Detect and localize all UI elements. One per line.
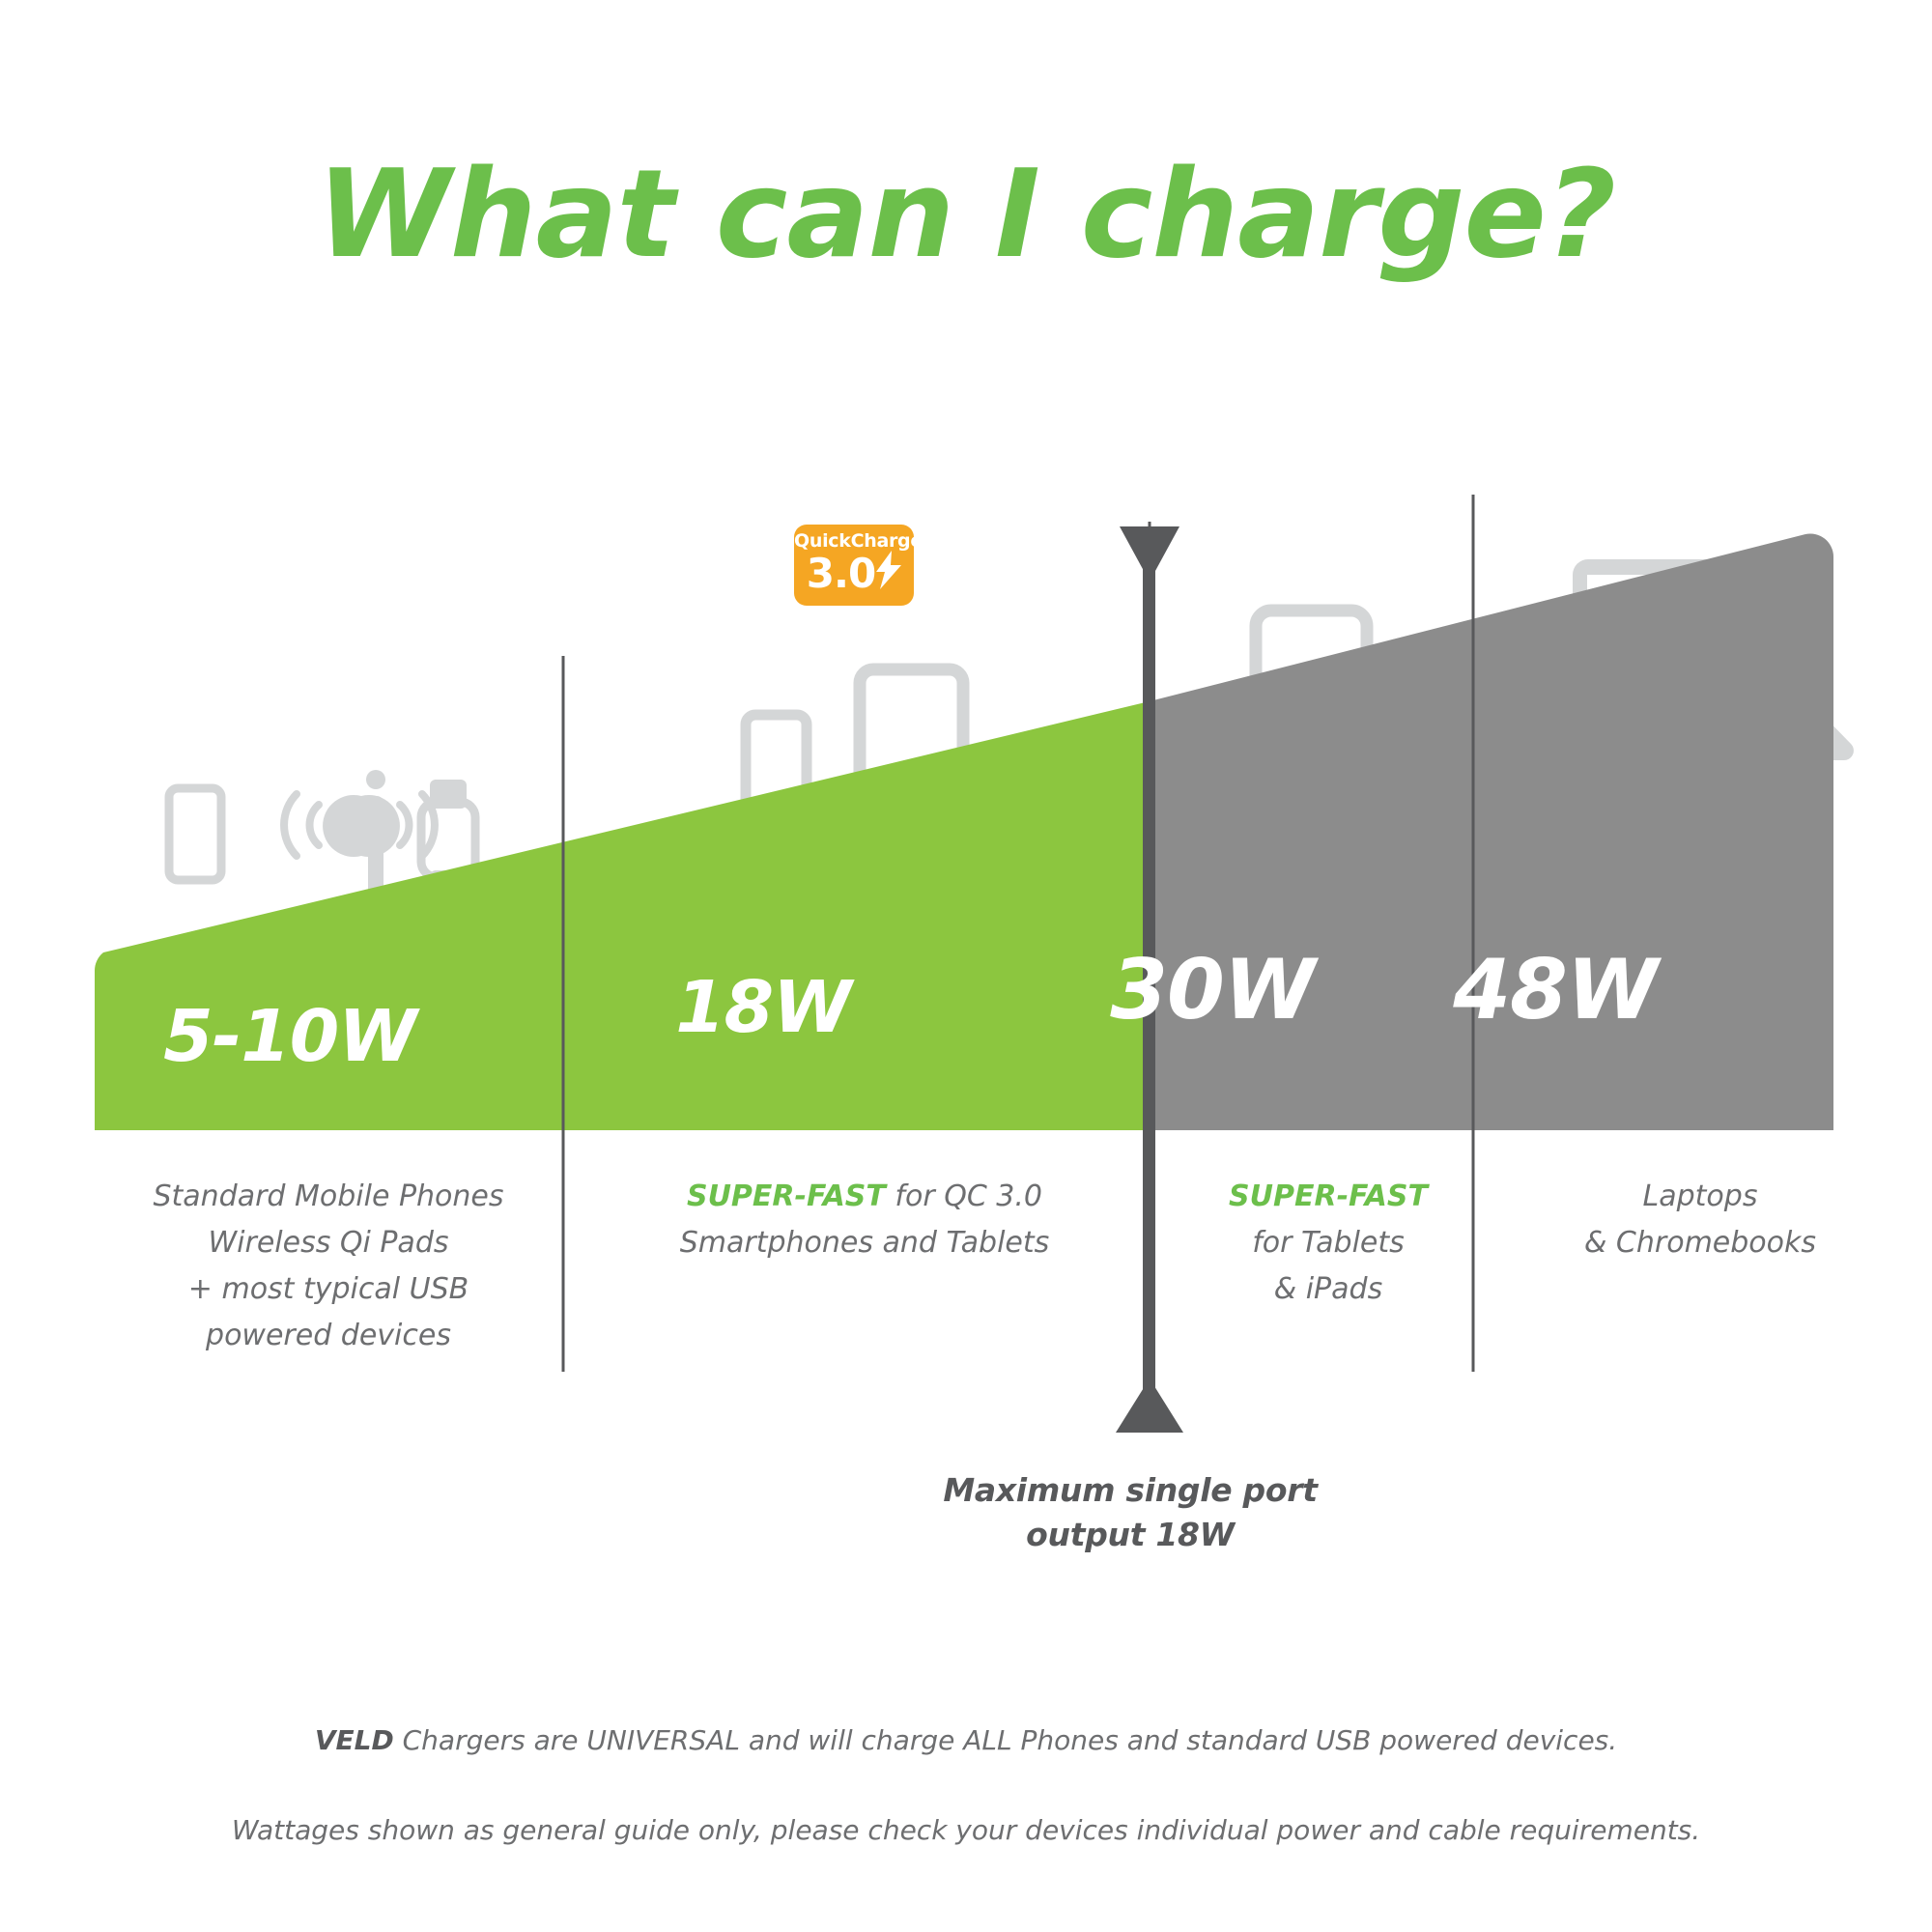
caption-line: Standard Mobile Phones	[82, 1174, 575, 1220]
segment-caption-3: SUPER-FAST for Tablets & iPads	[1174, 1174, 1483, 1313]
watt-label-2: 18W	[599, 966, 927, 1049]
watt-label-4: 48W	[1391, 942, 1719, 1038]
segment-caption-1: Standard Mobile Phones Wireless Qi Pads …	[82, 1174, 575, 1359]
caption-highlight: SUPER-FAST	[687, 1179, 886, 1213]
caption-line: SUPER-FAST	[1174, 1174, 1483, 1220]
quickcharge-badge: QuickCharge 3.0	[794, 525, 914, 606]
segment-caption-2: SUPER-FAST for QC 3.0 Smartphones and Ta…	[589, 1174, 1140, 1266]
segment-caption-4: Laptops & Chromebooks	[1507, 1174, 1893, 1266]
lightning-bolt-icon	[876, 551, 901, 594]
caption-rest: for QC 3.0	[886, 1179, 1042, 1213]
caption-line: Smartphones and Tablets	[589, 1220, 1140, 1266]
marker-arrow-up	[1116, 1378, 1183, 1433]
caption-line: Laptops	[1507, 1174, 1893, 1220]
quickcharge-badge-name: QuickCharge	[794, 531, 914, 551]
caption-line: for Tablets	[1174, 1220, 1483, 1266]
footer-line-2: Wattages shown as general guide only, pl…	[0, 1814, 1932, 1846]
caption-highlight: SUPER-FAST	[1229, 1179, 1428, 1213]
watt-label-3: 30W	[1048, 942, 1377, 1038]
max-output-line-2: output 18W	[840, 1513, 1420, 1557]
quickcharge-badge-version: 3.0	[807, 552, 875, 596]
caption-line: + most typical USB	[82, 1266, 575, 1313]
brand-name: VELD	[315, 1724, 394, 1756]
caption-line: Wireless Qi Pads	[82, 1220, 575, 1266]
footer-line-1: VELD Chargers are UNIVERSAL and will cha…	[0, 1724, 1932, 1756]
smartphone-icon	[169, 788, 221, 880]
infographic-page: What can I charge?	[0, 0, 1932, 1932]
caption-line: powered devices	[82, 1313, 575, 1359]
caption-line: & Chromebooks	[1507, 1220, 1893, 1266]
footer-line-1-text: Chargers are UNIVERSAL and will charge A…	[403, 1724, 1618, 1756]
marker-arrow-down	[1120, 526, 1179, 582]
watt-label-1: 5-10W	[126, 995, 454, 1078]
caption-line: SUPER-FAST for QC 3.0	[589, 1174, 1140, 1220]
caption-line: & iPads	[1174, 1266, 1483, 1313]
max-output-line-1: Maximum single port	[840, 1468, 1420, 1513]
max-output-annotation: Maximum single port output 18W	[840, 1468, 1420, 1557]
